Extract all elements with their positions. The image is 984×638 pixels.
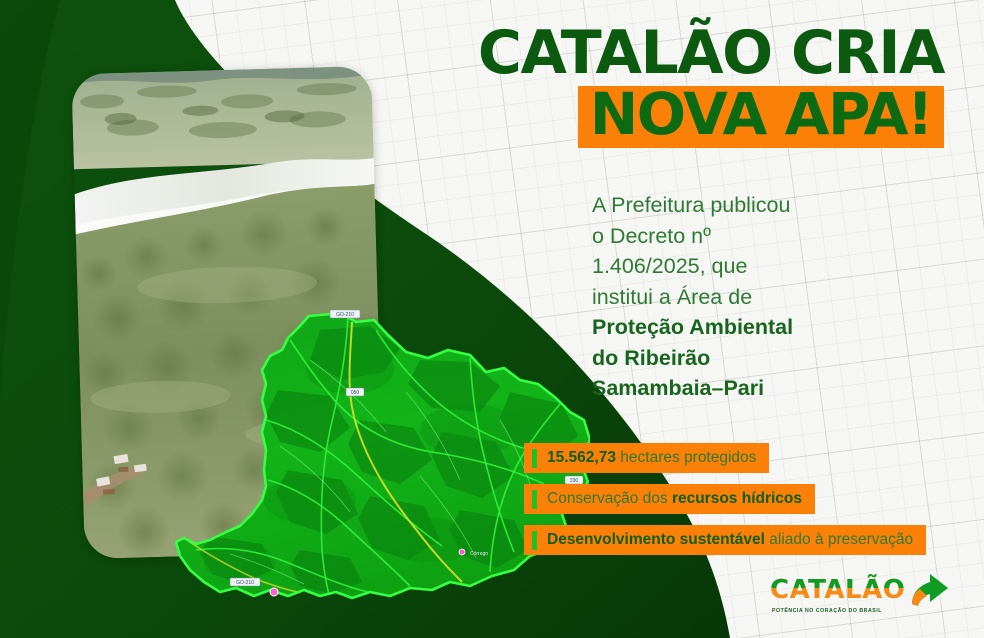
page-title: CATALÃO CRIA NOVA APA!	[404, 26, 944, 148]
bullet-1-bold: 15.562,73	[547, 449, 616, 466]
logo-illustration: CATALÃO CATALÃO POTÊNCIA NO CORAÇÃO DO B…	[762, 568, 977, 624]
bullet-bar-icon	[532, 531, 537, 550]
svg-text:050: 050	[351, 390, 360, 396]
highlight-list: 15.562,73 hectares protegidos Conservaçã…	[524, 443, 974, 566]
catalao-logo: CATALÃO CATALÃO POTÊNCIA NO CORAÇÃO DO B…	[762, 568, 977, 624]
body-line-5: Proteção Ambiental	[592, 312, 922, 343]
body-line-2: o Decreto nº	[592, 221, 922, 252]
body-line-6: do Ribeirão	[592, 343, 922, 374]
bullet-text-3: Desenvolvimento sustentável aliado à pre…	[547, 531, 913, 549]
headline-line-1: CATALÃO CRIA	[404, 26, 944, 81]
bullet-2-lead: Conservação dos	[547, 490, 672, 507]
road-label-4: GO-210	[230, 578, 260, 586]
map-marker-pink	[270, 588, 278, 596]
svg-text:GO-210: GO-210	[236, 580, 254, 586]
bullet-bar-icon	[532, 490, 537, 509]
list-item: Desenvolvimento sustentável aliado à pre…	[524, 525, 926, 555]
road-label-2: 050	[346, 388, 364, 396]
svg-text:GO-210: GO-210	[336, 312, 354, 318]
headline-line-2: NOVA APA!	[590, 88, 932, 141]
map-place-label: Córrego	[470, 551, 488, 557]
list-item: 15.562,73 hectares protegidos	[524, 443, 769, 473]
arrow-up-icon	[912, 574, 948, 606]
bullet-1-rest: hectares protegidos	[616, 449, 756, 466]
bullet-3-bold: Desenvolvimento sustentável	[547, 531, 765, 548]
body-line-4: institui a Área de	[592, 282, 922, 313]
bullet-text-1: 15.562,73 hectares protegidos	[547, 449, 756, 467]
logo-tagline: POTÊNCIA NO CORAÇÃO DO BRASIL	[772, 606, 882, 614]
bullet-text-2: Conservação dos recursos hídricos	[547, 490, 802, 508]
map-marker-pink-2	[459, 549, 465, 555]
body-line-7: Samambaia–Pari	[592, 373, 922, 404]
road-label-1: GO-210	[330, 310, 360, 318]
poster-canvas: GO-210 050 330 GO-210 Córrego	[0, 0, 984, 638]
body-line-3: 1.406/2025, que	[592, 251, 922, 282]
body-copy: A Prefeitura publicou o Decreto nº 1.406…	[592, 190, 922, 404]
headline-highlight-box: NOVA APA!	[578, 86, 944, 147]
bullet-bar-icon	[532, 449, 537, 468]
list-item: Conservação dos recursos hídricos	[524, 484, 815, 514]
bullet-2-bold: recursos hídricos	[672, 490, 802, 507]
bullet-3-rest: aliado à preservação	[765, 531, 913, 548]
body-line-1: A Prefeitura publicou	[592, 190, 922, 221]
